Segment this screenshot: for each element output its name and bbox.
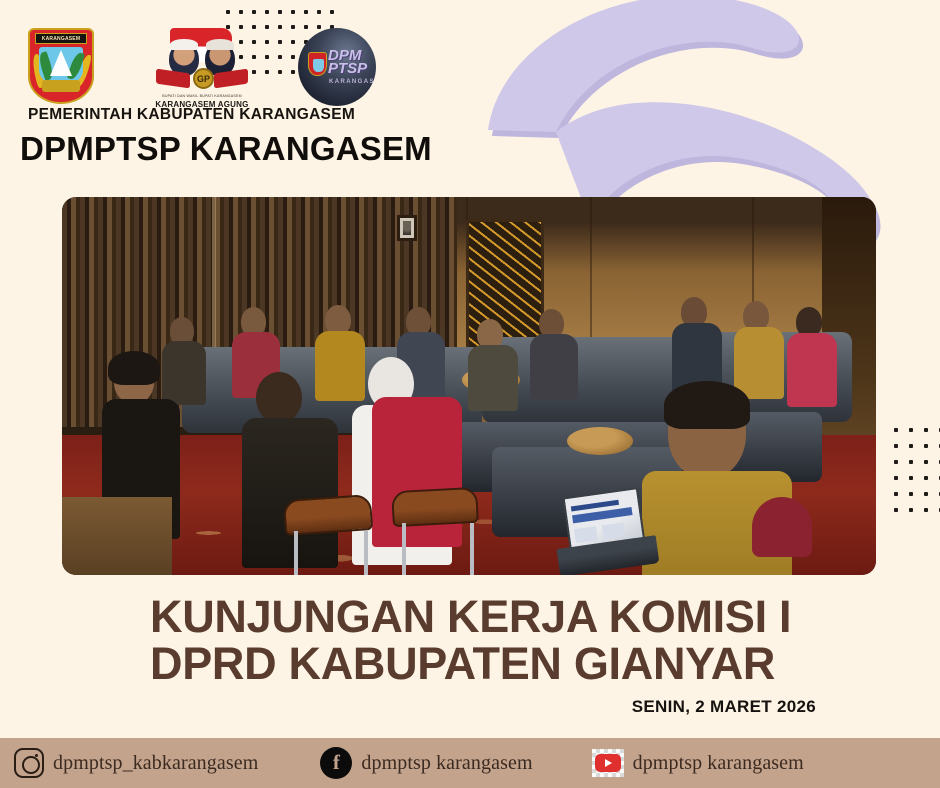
- social-instagram[interactable]: dpmptsp_kabkarangasem: [14, 748, 258, 778]
- dot: [909, 476, 913, 480]
- dot: [924, 428, 928, 432]
- facebook-handle: dpmptsp karangasem: [361, 752, 532, 775]
- dot: [909, 460, 913, 464]
- page-title: KUNJUNGAN KERJA KOMISI I DPRD KABUPATEN …: [150, 593, 850, 687]
- dot: [894, 476, 898, 480]
- side-table: [62, 497, 172, 575]
- agung-medal: GP: [193, 68, 214, 89]
- udeng-headwear-right: [206, 39, 234, 50]
- social-footer: dpmptsp_kabkarangasem dpmptsp karangasem…: [0, 738, 940, 788]
- chair-leg: [364, 531, 368, 575]
- dpmptsp-logo-subtitle: KARANGASEM: [329, 79, 376, 85]
- event-date: SENIN, 2 MARET 2026: [632, 697, 816, 717]
- dot: [894, 492, 898, 496]
- instagram-icon: [14, 748, 44, 778]
- karangasem-agung-icon: GP BUPATI DAN WAKIL BUPATI KARANGASEM KA…: [148, 26, 256, 110]
- agung-subtitle: BUPATI DAN WAKIL BUPATI KARANGASEM: [148, 94, 256, 98]
- dot: [909, 444, 913, 448]
- chair-leg: [402, 523, 406, 575]
- brand-title: DPMPTSP KARANGASEM: [20, 130, 432, 168]
- dot: [909, 508, 913, 512]
- dot-grid-right: [894, 428, 940, 524]
- dot: [924, 508, 928, 512]
- dot: [909, 492, 913, 496]
- dot: [924, 492, 928, 496]
- dpmptsp-word-line2: PTSP: [328, 62, 367, 75]
- dot: [909, 428, 913, 432]
- title-line-2: DPRD KABUPATEN GIANYAR: [150, 640, 850, 687]
- poster-canvas: KARANGASEM GP BUPATI DAN WAKIL BUPATI KA…: [0, 0, 940, 788]
- dpmptsp-logo-icon: DPM PTSP KARANGASEM: [298, 28, 376, 106]
- udeng-headwear-left: [170, 39, 198, 50]
- chair-leg: [294, 531, 298, 575]
- dpmptsp-wordmark: DPM PTSP: [328, 49, 367, 75]
- dot: [924, 476, 928, 480]
- meeting-room-photo: [62, 197, 876, 575]
- youtube-icon: [592, 749, 624, 777]
- red-office-chair: [752, 497, 812, 557]
- chair-leg: [470, 523, 474, 575]
- crest-banner: KARANGASEM: [35, 33, 87, 44]
- social-facebook[interactable]: dpmptsp karangasem: [320, 747, 532, 779]
- crest-banner-label: KARANGASEM: [42, 36, 80, 42]
- karangasem-crest-icon: KARANGASEM: [28, 28, 94, 104]
- dot: [924, 444, 928, 448]
- crest-base: [42, 80, 80, 92]
- instagram-handle: dpmptsp_kabkarangasem: [53, 752, 258, 775]
- dpmptsp-mini-crest: [308, 52, 327, 76]
- dot: [924, 460, 928, 464]
- crest-meru-pagoda: [50, 50, 72, 76]
- organization-line: PEMERINTAH KABUPATEN KARANGASEM: [28, 106, 355, 124]
- chair-back: [283, 494, 373, 536]
- title-line-1: KUNJUNGAN KERJA KOMISI I: [150, 593, 850, 640]
- dot: [894, 428, 898, 432]
- wall-portrait-frame: [397, 215, 417, 241]
- facebook-icon: [320, 747, 352, 779]
- chair-back: [391, 487, 479, 527]
- social-youtube[interactable]: dpmptsp karangasem: [592, 749, 804, 777]
- dot: [894, 460, 898, 464]
- logo-row: KARANGASEM GP BUPATI DAN WAKIL BUPATI KA…: [0, 12, 420, 104]
- coffee-table-front: [567, 427, 633, 455]
- ribbon-right: [214, 69, 248, 89]
- dot: [894, 444, 898, 448]
- dot: [894, 508, 898, 512]
- youtube-handle: dpmptsp karangasem: [633, 752, 804, 775]
